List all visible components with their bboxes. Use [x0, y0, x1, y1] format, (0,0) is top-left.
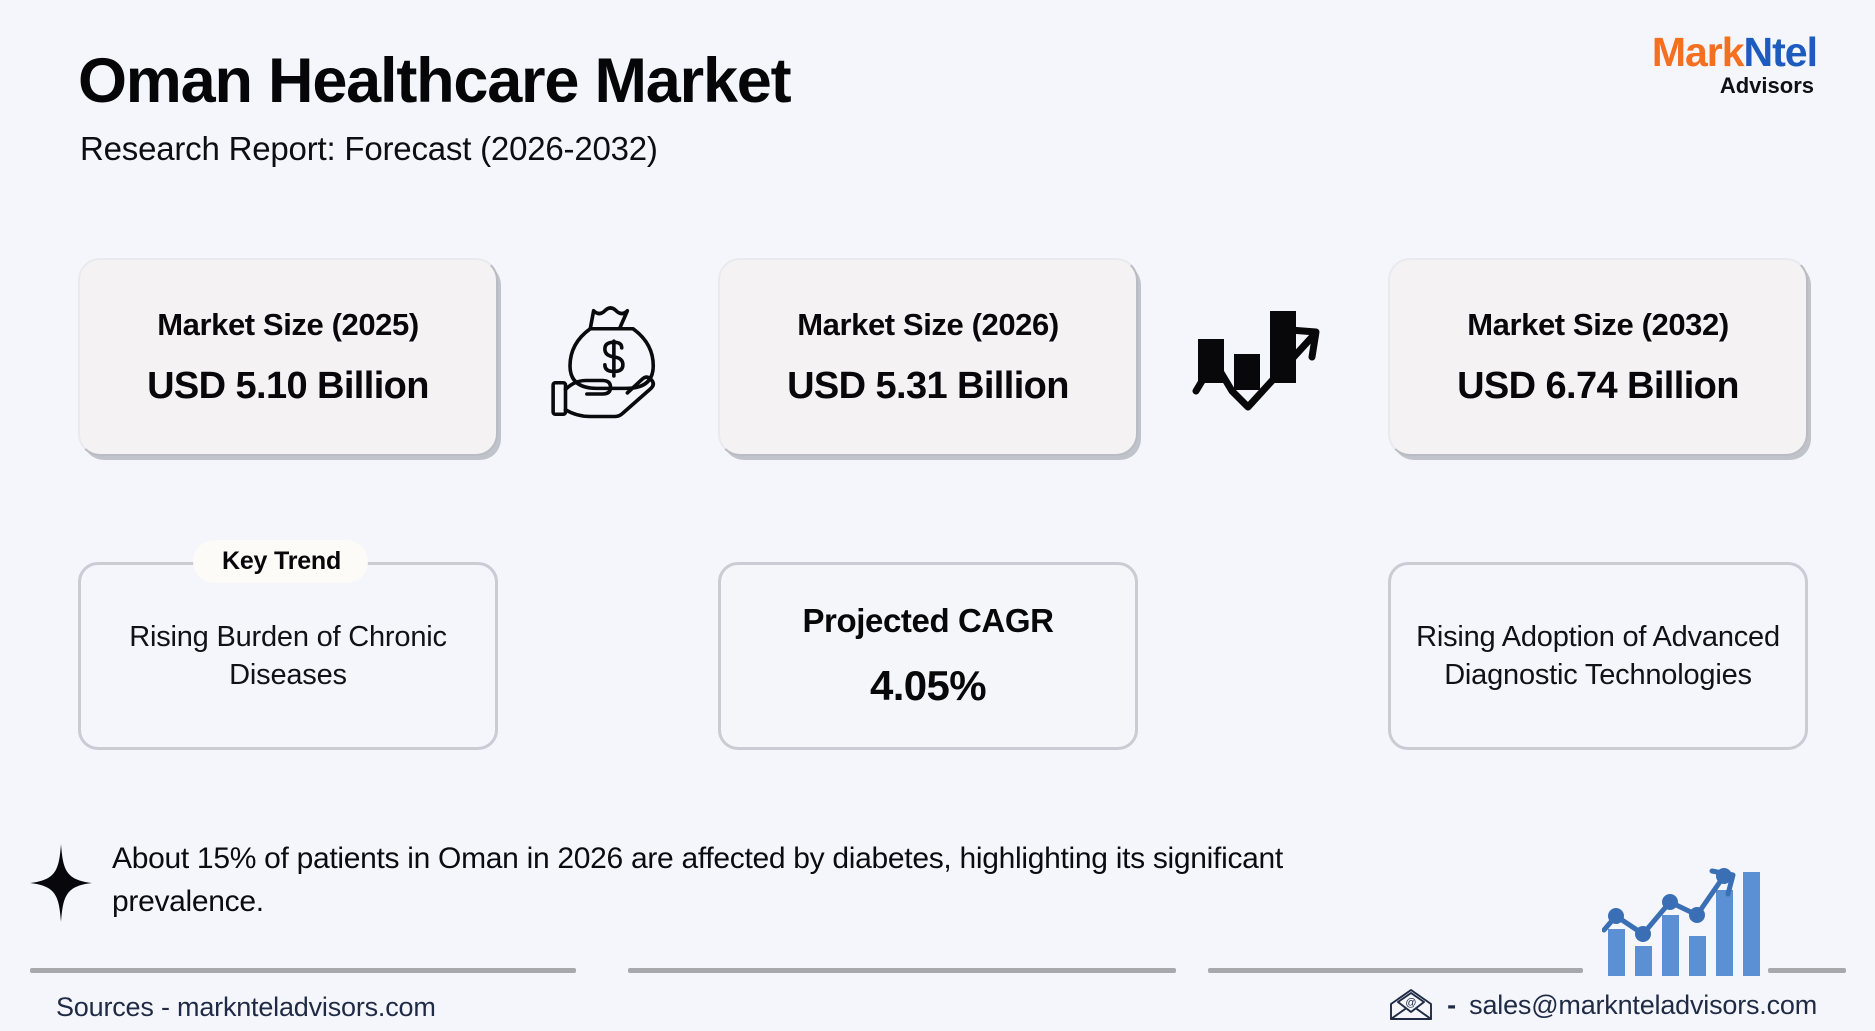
insights-row: Key Driver Rising Burden of Chronic Dise…	[0, 562, 1875, 757]
projected-cagr-card: Projected CAGR 4.05%	[718, 562, 1138, 750]
logo-tagline: Advisors	[1652, 75, 1814, 97]
logo-mark-text: Mark	[1652, 29, 1744, 75]
market-size-card-2032: Market Size (2032) USD 6.74 Billion	[1388, 258, 1808, 456]
key-fact-text: About 15% of patients in Oman in 2026 ar…	[112, 838, 1292, 923]
cagr-content: Projected CAGR 4.05%	[802, 602, 1053, 710]
contact-email[interactable]: sales@marknteladvisors.com	[1469, 990, 1817, 1021]
cagr-label: Projected CAGR	[802, 602, 1053, 640]
market-size-value: USD 6.74 Billion	[1457, 365, 1739, 408]
logo-wordmark: MarkNtel	[1652, 32, 1817, 73]
key-trend-text: Rising Adoption of Advanced Diagnostic T…	[1391, 618, 1805, 695]
market-size-label: Market Size (2026)	[797, 307, 1059, 343]
key-trend-badge: Key Trend	[196, 540, 367, 583]
page-subtitle: Research Report: Forecast (2026-2032)	[80, 130, 658, 168]
cagr-value: 4.05%	[870, 662, 986, 710]
footer-divider	[628, 968, 1176, 973]
footer-divider	[30, 968, 576, 973]
money-bag-icon	[543, 291, 678, 426]
key-fact: About 15% of patients in Oman in 2026 ar…	[30, 838, 1330, 923]
key-driver-text: Rising Burden of Chronic Diseases	[81, 618, 495, 695]
sources-text[interactable]: Sources - marknteladvisors.com	[56, 992, 436, 1023]
contact-separator: -	[1447, 990, 1456, 1021]
key-driver-card: Rising Burden of Chronic Diseases	[78, 562, 498, 750]
brand-logo[interactable]: MarkNtel Advisors	[1652, 32, 1817, 97]
sparkle-star-icon	[30, 844, 92, 922]
market-size-card-2025: Market Size (2025) USD 5.10 Billion	[78, 258, 498, 456]
logo-ntel-text: Ntel	[1744, 29, 1817, 75]
market-size-value: USD 5.10 Billion	[147, 365, 429, 408]
footer-divider	[1208, 968, 1583, 973]
decorative-bar-chart	[1602, 858, 1777, 976]
market-size-row: Market Size (2025) USD 5.10 Billion Mark…	[0, 258, 1875, 458]
footer-divider-group	[0, 968, 1875, 976]
market-size-label: Market Size (2025)	[157, 307, 419, 343]
page-header: Oman Healthcare Market Research Report: …	[0, 0, 1875, 200]
footer-divider	[1768, 968, 1846, 973]
market-size-card-2026: Market Size (2026) USD 5.31 Billion	[718, 258, 1138, 456]
contact-block[interactable]: @ - sales@marknteladvisors.com	[1388, 988, 1817, 1022]
page-title: Oman Healthcare Market	[78, 48, 790, 114]
svg-text:@: @	[1406, 997, 1417, 1009]
email-envelope-icon: @	[1388, 988, 1434, 1022]
key-trend-card: Rising Adoption of Advanced Diagnostic T…	[1388, 562, 1808, 750]
page-footer: Sources - marknteladvisors.com @ - sales…	[0, 988, 1875, 1031]
market-size-value: USD 5.31 Billion	[787, 365, 1069, 408]
growth-arrow-icon	[1190, 299, 1340, 417]
market-size-label: Market Size (2032)	[1467, 307, 1729, 343]
